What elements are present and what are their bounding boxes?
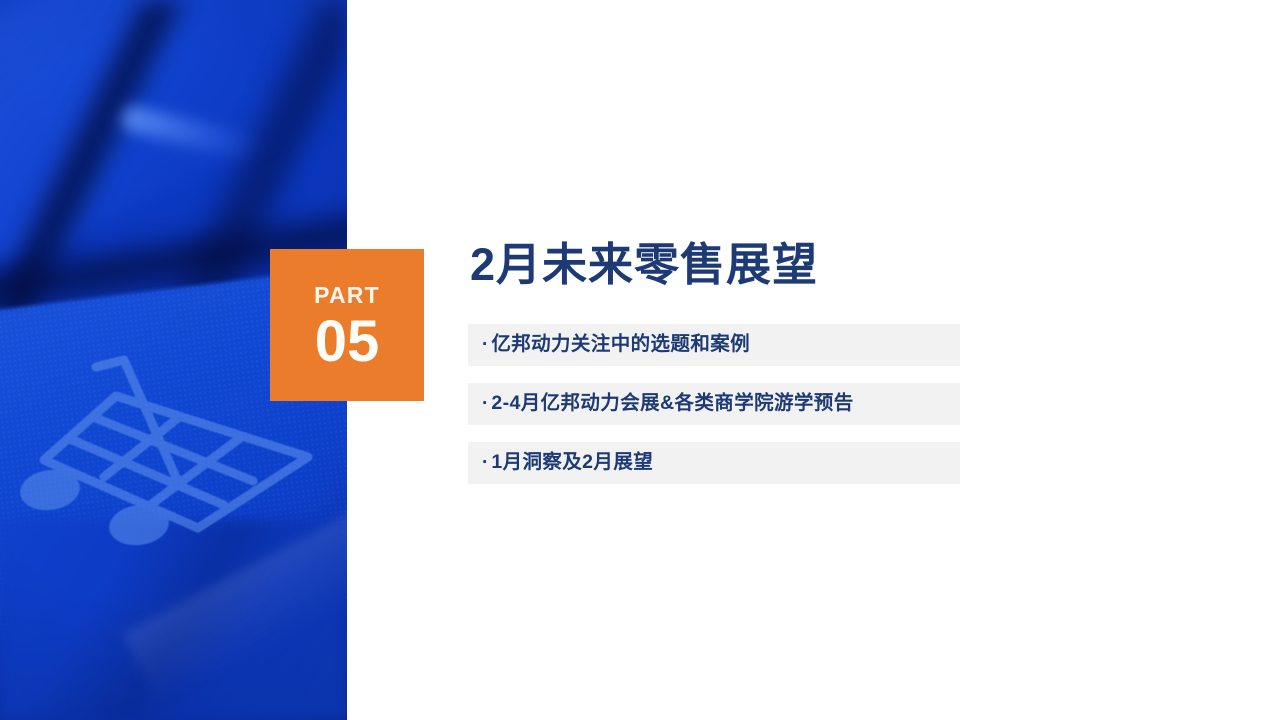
part-badge: PART 05 bbox=[270, 249, 424, 401]
bullet-marker-icon: · bbox=[482, 394, 488, 413]
bullet-marker-icon: · bbox=[482, 335, 488, 354]
presentation-slide: PART 05 2月未来零售展望 · 亿邦动力关注中的选题和案例 · 2-4月亿… bbox=[0, 0, 1280, 720]
part-label: PART bbox=[314, 284, 380, 307]
list-item-label: 亿邦动力关注中的选题和案例 bbox=[491, 335, 750, 355]
part-number: 05 bbox=[315, 313, 380, 371]
slide-content: 2月未来零售展望 · 亿邦动力关注中的选题和案例 · 2-4月亿邦动力会展&各类… bbox=[468, 240, 968, 484]
page-title: 2月未来零售展望 bbox=[470, 240, 968, 290]
list-item: · 亿邦动力关注中的选题和案例 bbox=[468, 324, 960, 366]
list-item-label: 2-4月亿邦动力会展&各类商学院游学预告 bbox=[491, 394, 853, 414]
list-item-label: 1月洞察及2月展望 bbox=[491, 453, 653, 473]
agenda-list: · 亿邦动力关注中的选题和案例 · 2-4月亿邦动力会展&各类商学院游学预告 ·… bbox=[468, 324, 960, 484]
list-item: · 2-4月亿邦动力会展&各类商学院游学预告 bbox=[468, 383, 960, 425]
list-item: · 1月洞察及2月展望 bbox=[468, 442, 960, 484]
bullet-marker-icon: · bbox=[482, 453, 488, 472]
